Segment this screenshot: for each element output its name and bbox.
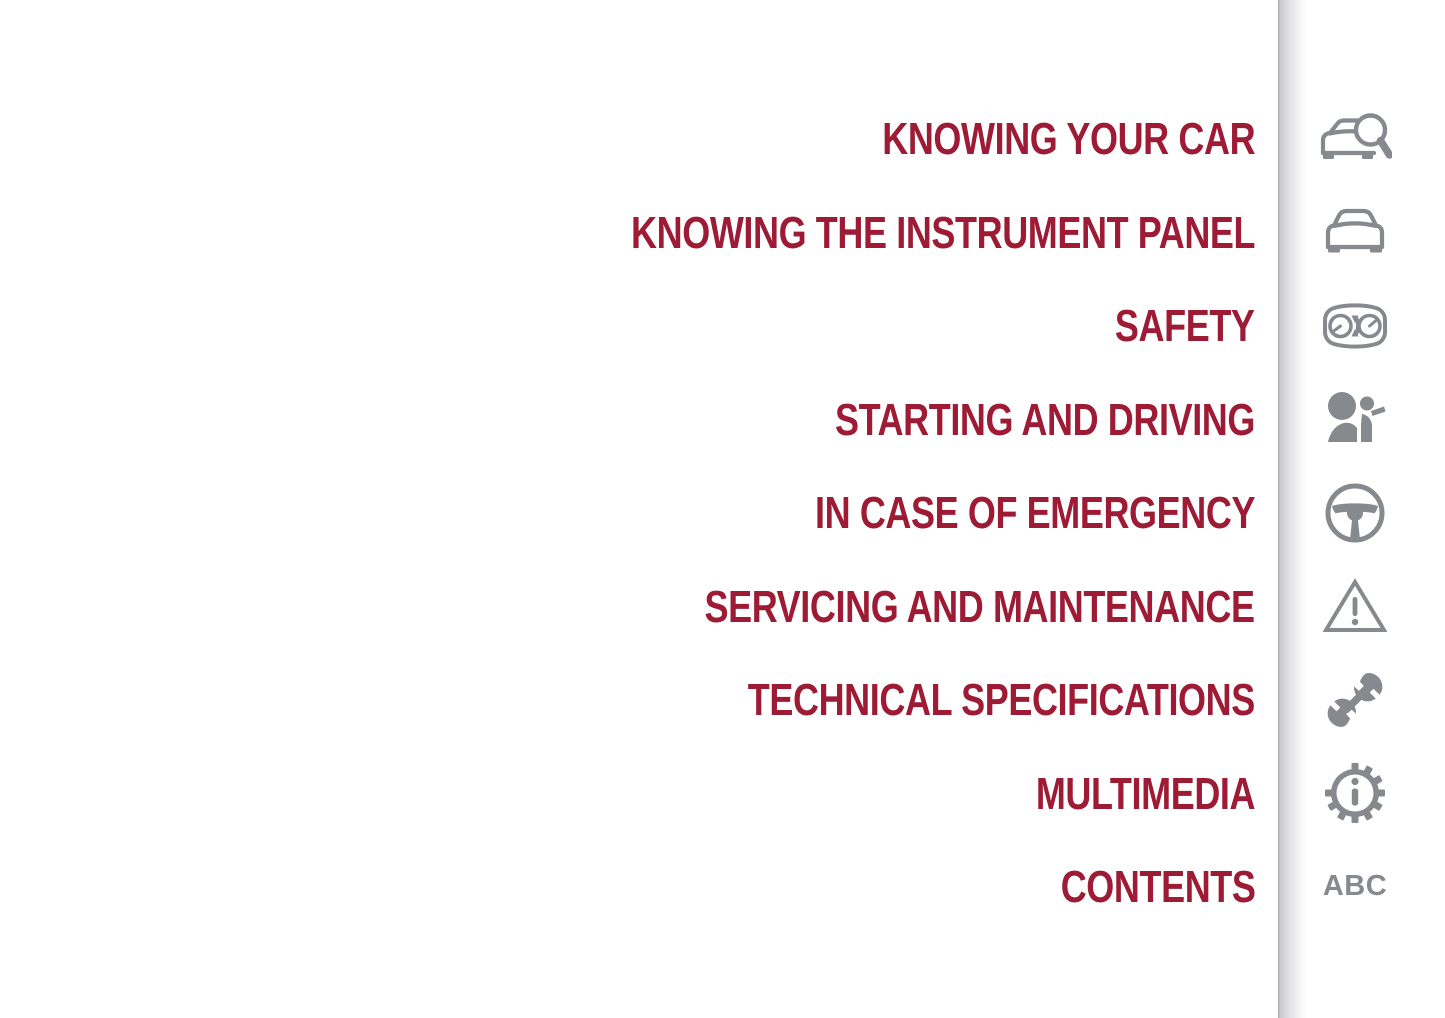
section-row-knowing-your-car[interactable]: KNOWING YOUR CAR: [330, 92, 1255, 186]
section-row-technical-specifications[interactable]: TECHNICAL SPECIFICATIONS: [330, 653, 1255, 747]
car-front-icon: [1324, 207, 1386, 257]
section-label: KNOWING THE INSTRUMENT PANEL: [631, 210, 1255, 255]
section-label: STARTING AND DRIVING: [835, 397, 1255, 442]
section-label: SAFETY: [1115, 303, 1255, 348]
section-row-knowing-the-instrument-panel[interactable]: KNOWING THE INSTRUMENT PANEL: [330, 186, 1255, 280]
section-label: MULTIMEDIA: [1036, 771, 1255, 816]
section-row-safety[interactable]: SAFETY: [330, 279, 1255, 373]
warning-triangle-icon: [1323, 578, 1387, 634]
instrument-cluster-gauges-icon: [1322, 303, 1388, 349]
icon-cell-starting-and-driving[interactable]: [1305, 373, 1405, 467]
car-with-magnifier-icon: [1318, 109, 1392, 169]
section-label: KNOWING YOUR CAR: [882, 116, 1255, 161]
wrench-icon: [1326, 671, 1384, 729]
icon-cell-safety[interactable]: [1305, 279, 1405, 373]
section-label: TECHNICAL SPECIFICATIONS: [748, 677, 1255, 722]
section-label: SERVICING AND MAINTENANCE: [705, 584, 1255, 629]
abc-text-icon: ABC: [1323, 872, 1387, 901]
icon-cell-in-case-of-emergency[interactable]: [1305, 466, 1405, 560]
gear-info-icon: [1325, 763, 1385, 823]
section-row-starting-and-driving[interactable]: STARTING AND DRIVING: [330, 373, 1255, 467]
icon-cell-contents[interactable]: ABC: [1305, 840, 1405, 934]
section-label: IN CASE OF EMERGENCY: [815, 490, 1255, 535]
icon-cell-servicing-and-maintenance[interactable]: [1305, 560, 1405, 654]
icon-cell-multimedia[interactable]: [1305, 747, 1405, 841]
section-row-contents[interactable]: CONTENTS: [330, 840, 1255, 934]
icon-cell-technical-specifications[interactable]: [1305, 653, 1405, 747]
section-label: CONTENTS: [1060, 864, 1255, 909]
section-row-in-case-of-emergency[interactable]: IN CASE OF EMERGENCY: [330, 466, 1255, 560]
page-spine-edge: [1278, 0, 1279, 1018]
section-icon-rail: ABC: [1305, 92, 1405, 934]
airbag-seatbelt-icon: [1324, 390, 1386, 448]
section-row-multimedia[interactable]: MULTIMEDIA: [330, 747, 1255, 841]
icon-cell-knowing-your-car[interactable]: [1305, 92, 1405, 186]
manual-index-page: KNOWING YOUR CAR KNOWING THE INSTRUMENT …: [0, 0, 1445, 1018]
section-index-list: KNOWING YOUR CAR KNOWING THE INSTRUMENT …: [330, 92, 1255, 934]
steering-wheel-icon: [1325, 483, 1385, 543]
icon-cell-knowing-the-instrument-panel[interactable]: [1305, 186, 1405, 280]
section-row-servicing-and-maintenance[interactable]: SERVICING AND MAINTENANCE: [330, 560, 1255, 654]
page-spine-shadow: [1278, 0, 1308, 1018]
